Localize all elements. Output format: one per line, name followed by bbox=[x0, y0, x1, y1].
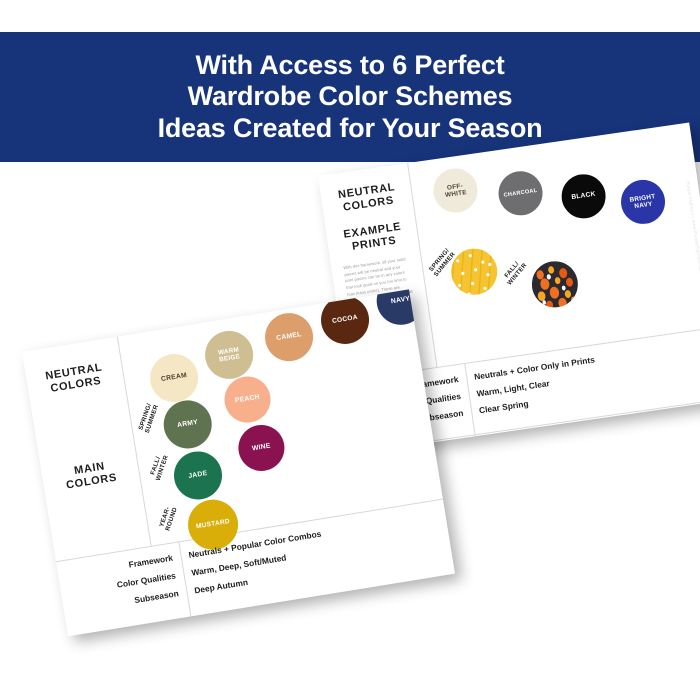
thumbnail-dots bbox=[539, 442, 557, 453]
front-card-neutral-swatch-2[interactable]: WARM BEIGE bbox=[202, 327, 257, 382]
palette-thumbnail[interactable] bbox=[193, 620, 220, 636]
thumbnail-caption bbox=[306, 617, 325, 628]
palette-thumbnail[interactable] bbox=[469, 446, 495, 453]
front-card-framework-value-3: Deep Autumn bbox=[194, 577, 249, 596]
swatch-label: NAVY bbox=[390, 295, 410, 306]
palette-thumbnail[interactable] bbox=[124, 634, 151, 636]
back-card-neutral-colors-heading: NEUTRAL COLORS bbox=[328, 180, 407, 217]
front-card-neutral-swatch-1[interactable]: CREAM bbox=[147, 350, 202, 405]
palette-thumbnail[interactable] bbox=[333, 600, 360, 626]
back-card-print-swatch-fall-winter[interactable] bbox=[529, 258, 581, 310]
palette-thumbnail[interactable] bbox=[533, 442, 559, 453]
front-card-spring-summer-label: SPRING/ SUMMER bbox=[137, 402, 161, 435]
back-card-neutral-swatch-2[interactable]: CHARCOAL bbox=[496, 168, 546, 218]
thumbnail-caption bbox=[202, 633, 221, 636]
banner-line-3: Ideas Created for Your Season bbox=[158, 113, 543, 145]
palette-thumbnail[interactable] bbox=[264, 614, 291, 636]
thumbnail-dots bbox=[166, 631, 185, 636]
thumbnail-caption-lines bbox=[333, 603, 339, 610]
front-card-main-swatch-4[interactable]: WINE bbox=[235, 422, 288, 475]
thumbnail-caption-lines bbox=[501, 446, 507, 453]
front-card-fall-winter-label: FALL/ WINTER bbox=[148, 452, 171, 482]
back-card-neutral-swatch-3[interactable]: BLACK bbox=[559, 171, 609, 221]
thumbnail-caption bbox=[636, 441, 654, 452]
palette-thumbnail[interactable] bbox=[564, 432, 590, 453]
thumbnail-dots bbox=[634, 428, 652, 443]
thumbnail-dots bbox=[339, 600, 358, 616]
thumbnail-dots bbox=[304, 603, 323, 619]
front-card-section-divider bbox=[56, 499, 443, 563]
thumbnail-dots bbox=[131, 634, 150, 636]
thumbnail-dots bbox=[270, 614, 289, 630]
promo-graphic: With Access to 6 Perfect Wardrobe Color … bbox=[0, 0, 700, 700]
back-card-framework-value-2: Warm, Light, Clear bbox=[476, 378, 550, 398]
thumbnail-caption-lines bbox=[533, 444, 539, 451]
palette-thumbnail[interactable] bbox=[501, 444, 527, 453]
thumbnail-dots bbox=[665, 419, 683, 434]
back-card-framework-value-3: Clear Spring bbox=[478, 398, 529, 415]
thumbnail-caption-lines bbox=[596, 433, 602, 440]
thumbnail-caption bbox=[342, 614, 361, 625]
palette-thumbnail[interactable] bbox=[691, 416, 700, 440]
thumbnail-caption bbox=[272, 627, 291, 636]
front-card-main-colors-heading: MAIN COLORS bbox=[47, 456, 134, 496]
banner-line-1: With Access to 6 Perfect bbox=[195, 50, 504, 82]
front-card-neutral-swatch-4[interactable]: COCOA bbox=[318, 292, 373, 347]
front-card-main-swatch-3[interactable]: JADE bbox=[170, 448, 225, 503]
thumbnail-caption-lines bbox=[228, 620, 234, 627]
thumbnail-caption-lines bbox=[298, 606, 304, 613]
thumbnail-dots bbox=[200, 620, 219, 636]
thumbnail-dots bbox=[475, 446, 493, 453]
swatch-label: WINE bbox=[252, 443, 272, 454]
front-card-main-swatch-2[interactable]: PEACH bbox=[221, 373, 274, 426]
swatch-label: WARM BEIGE bbox=[217, 346, 240, 364]
thumbnail-caption-lines bbox=[264, 617, 270, 624]
front-card-neutral-colors-heading: NEUTRAL COLORS bbox=[31, 359, 118, 399]
thumbnail-dots bbox=[507, 444, 525, 453]
front-card-main-swatch-1[interactable]: ARMY bbox=[160, 397, 215, 452]
thumbnail-caption bbox=[667, 431, 685, 442]
thumbnail-caption-lines bbox=[193, 623, 199, 630]
thumbnail-dots bbox=[235, 617, 254, 633]
swatch-label: BRIGHT NAVY bbox=[629, 193, 657, 211]
thumbnail-dots bbox=[602, 430, 620, 445]
back-card-neutral-swatch-4[interactable]: BRIGHT NAVY bbox=[618, 177, 668, 227]
swatch-label: MUSTARD bbox=[196, 518, 231, 531]
thumbnail-caption bbox=[237, 630, 256, 636]
thumbnail-caption-lines bbox=[691, 419, 697, 426]
color-scheme-card-deep-autumn[interactable]: NEUTRAL COLORSMAIN COLORSSPRING/ SUMMERF… bbox=[22, 289, 455, 636]
thumbnail-caption bbox=[572, 445, 590, 453]
banner-line-2: Wardrobe Color Schemes bbox=[188, 81, 513, 113]
back-card-fall-winter-label: FALL/ WINTER bbox=[501, 257, 529, 287]
thumbnail-caption-lines bbox=[159, 634, 165, 636]
swatch-label: ARMY bbox=[177, 419, 199, 430]
palette-thumbnail[interactable] bbox=[298, 603, 325, 629]
palette-thumbnail[interactable] bbox=[228, 617, 255, 636]
palette-thumbnail[interactable] bbox=[159, 631, 186, 636]
thumbnail-caption-lines bbox=[628, 431, 634, 438]
thumbnail-caption-lines bbox=[564, 435, 570, 442]
palette-thumbnail[interactable] bbox=[628, 428, 654, 452]
back-card-example-prints-heading: EXAMPLE PRINTS bbox=[334, 219, 413, 256]
swatch-label: PEACH bbox=[235, 394, 261, 406]
thumbnail-caption-lines bbox=[469, 449, 475, 454]
palette-thumbnail[interactable] bbox=[596, 430, 622, 453]
front-card-column-divider bbox=[117, 336, 152, 545]
swatch-label: CHARCOAL bbox=[503, 188, 538, 199]
swatch-label: CREAM bbox=[161, 372, 188, 384]
swatch-label: CAMEL bbox=[276, 331, 302, 343]
back-card-watermark: Purple Fighters | www.PurpleFighters.com bbox=[686, 181, 700, 275]
swatch-label: COCOA bbox=[332, 314, 359, 325]
thumbnail-dots bbox=[570, 432, 588, 447]
front-card-neutral-swatch-3[interactable]: CAMEL bbox=[262, 310, 317, 365]
back-card-neutral-swatch-1[interactable]: OFF- WHITE bbox=[431, 166, 481, 216]
swatch-label: JADE bbox=[188, 470, 208, 481]
thumbnail-caption bbox=[604, 443, 622, 453]
thumbnail-caption-lines bbox=[659, 421, 665, 428]
swatch-label: BLACK bbox=[571, 191, 596, 202]
front-card-year-round-label: YEAR- ROUND bbox=[158, 504, 180, 532]
swatch-label: OFF- WHITE bbox=[444, 182, 468, 199]
palette-thumbnail[interactable] bbox=[659, 419, 685, 443]
